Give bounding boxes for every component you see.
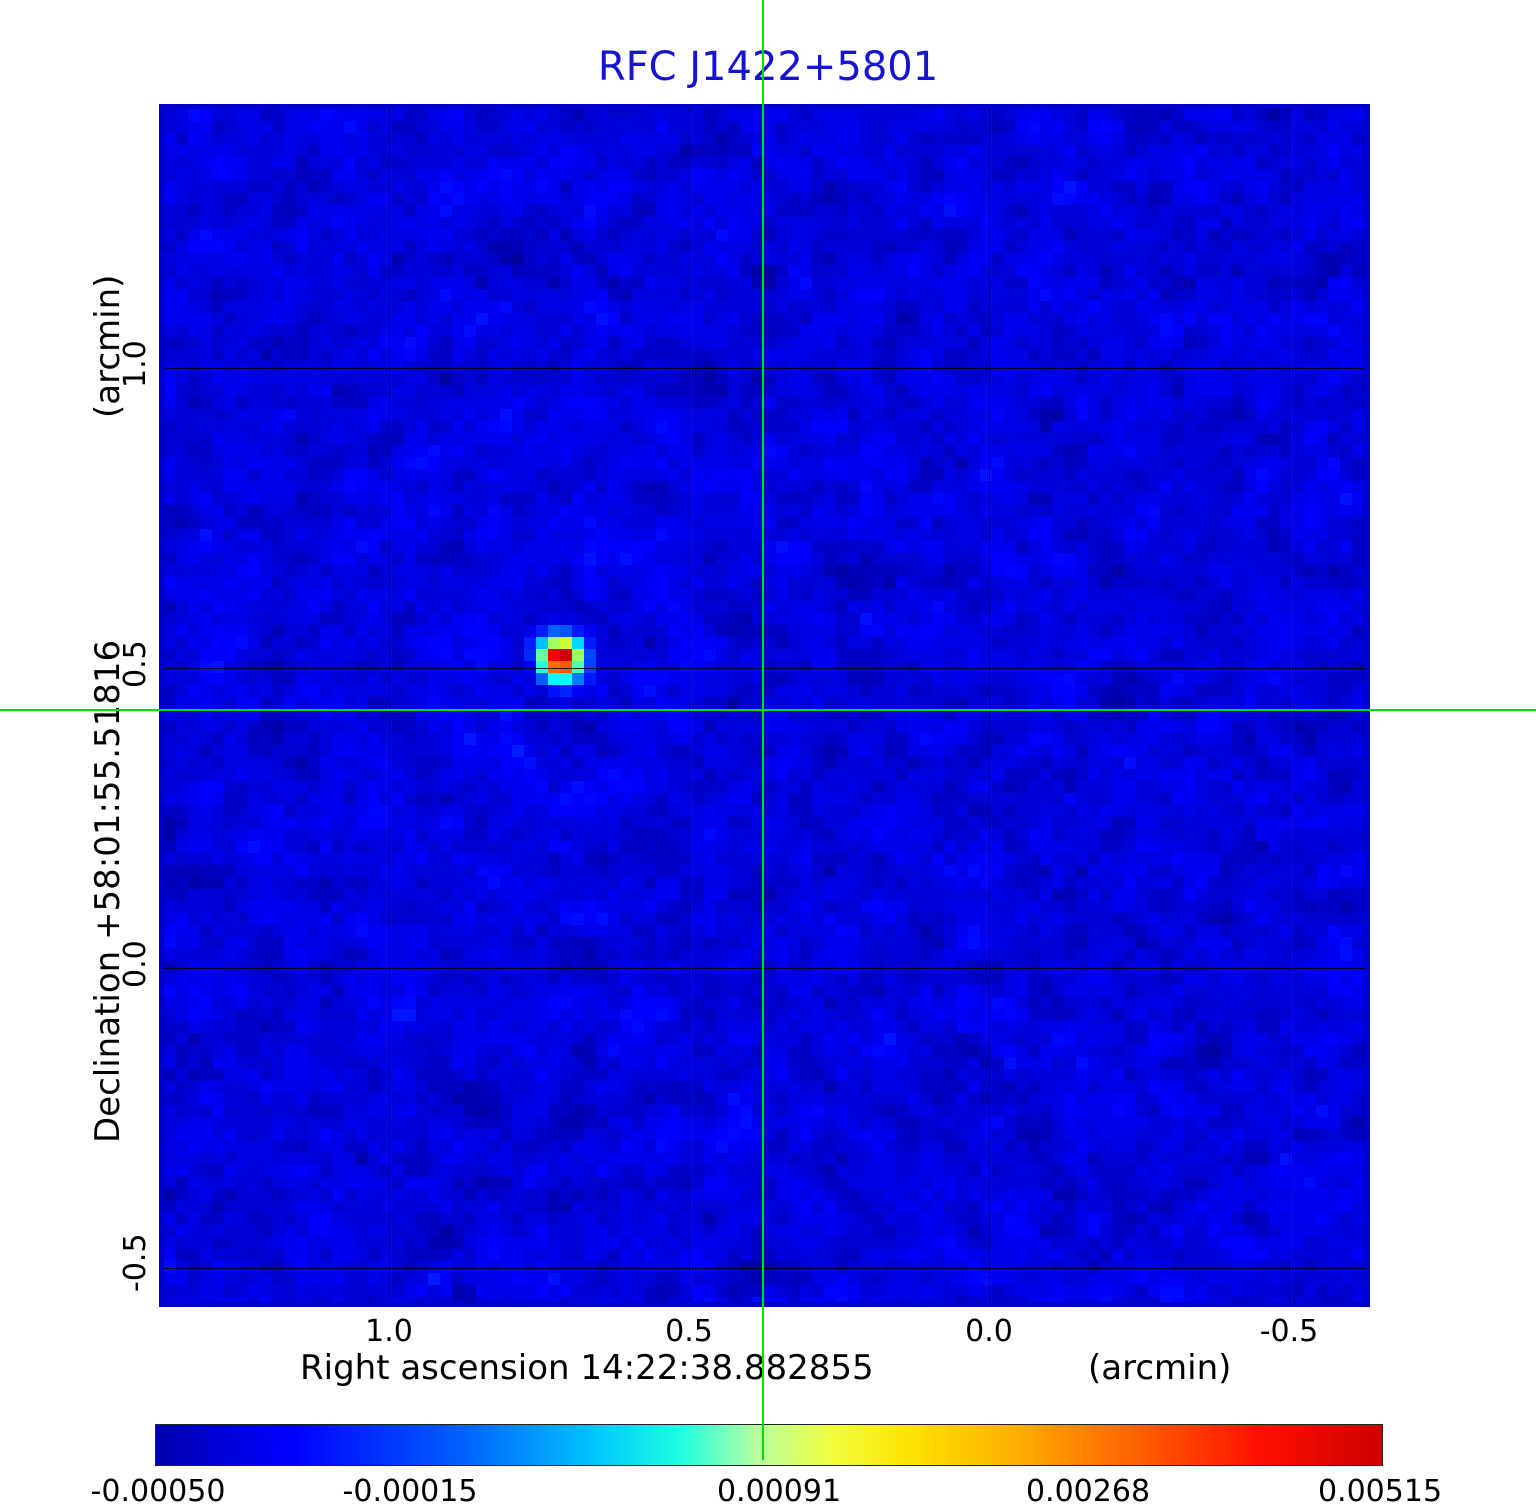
x-axis-label: Right ascension 14:22:38.882855	[300, 1348, 874, 1388]
gridline-x-2	[689, 109, 690, 1302]
gridline-y-3	[164, 968, 1365, 969]
colorbar-tick-1: -0.00015	[300, 1474, 520, 1509]
image-plot-area[interactable]	[159, 104, 1370, 1307]
colorbar-tick-2: 0.00091	[669, 1474, 889, 1509]
xtick-label-2: 0.0	[929, 1314, 1049, 1349]
radio-image-figure: RFC J1422+5801 1.0 0.5 0.0 -0.5 1.0 0.5 …	[0, 0, 1536, 1511]
gridline-y-4	[164, 1268, 1365, 1269]
xtick-label-3: -0.5	[1229, 1314, 1349, 1349]
page-title: RFC J1422+5801	[0, 44, 1536, 90]
xtick-label-0: 1.0	[329, 1314, 449, 1349]
gridline-y-2	[164, 668, 1365, 669]
gridline-x-3	[989, 109, 990, 1302]
ytick-label-3: -0.5	[118, 1233, 153, 1292]
crosshair-vertical	[762, 0, 764, 1460]
crosshair-horizontal	[0, 709, 1536, 711]
xtick-label-1: 0.5	[629, 1314, 749, 1349]
x-axis-unit-label: (arcmin)	[1088, 1348, 1231, 1388]
colorbar-tick-0: -0.00050	[48, 1474, 268, 1509]
colorbar-tick-3: 0.00268	[978, 1474, 1198, 1509]
y-axis-label: Declination +58:01:55.51816	[88, 640, 128, 1143]
gridline-x-4	[1289, 109, 1290, 1302]
colorbar[interactable]	[155, 1424, 1383, 1466]
image-plot-inner	[164, 109, 1365, 1302]
colorbar-tick-4: 0.00515	[1270, 1474, 1490, 1509]
gridline-x-1	[389, 109, 390, 1302]
radio-map-canvas	[164, 109, 1365, 1302]
y-axis-unit-label: (arcmin)	[88, 275, 128, 418]
gridline-y-1	[164, 368, 1365, 369]
